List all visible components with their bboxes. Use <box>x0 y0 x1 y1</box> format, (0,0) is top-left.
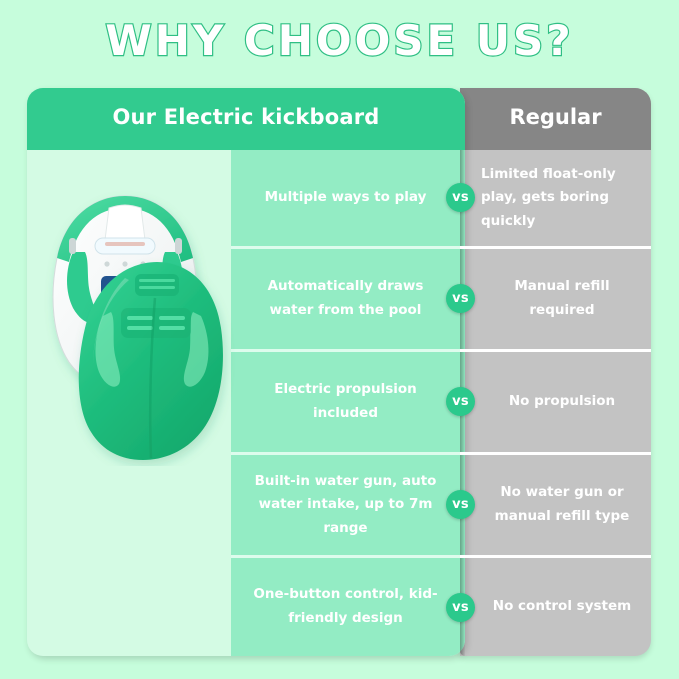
regular-cell: Manual refill required <box>469 249 651 349</box>
regular-column-header: Regular <box>460 88 651 150</box>
regular-cell: No control system <box>469 558 651 656</box>
vs-badge: vs <box>446 593 475 622</box>
regular-column-header-label: Regular <box>460 105 651 129</box>
regular-cell: No propulsion <box>469 352 651 452</box>
electric-kickboard-product-photo <box>29 166 239 466</box>
ours-cell: Automatically draws water from the pool <box>231 249 460 349</box>
ours-cell: One-button control, kid-friendly design <box>231 558 460 656</box>
table-row: Built-in water gun, auto water intake, u… <box>27 455 651 555</box>
ours-column-header: Our Electric kickboard <box>27 88 465 150</box>
vs-badge: vs <box>446 490 475 519</box>
vs-badge: vs <box>446 284 475 313</box>
ours-cell: Electric propulsion included <box>231 352 460 452</box>
regular-cell: No water gun or manual refill type <box>469 455 651 555</box>
ours-cell: Multiple ways to play <box>231 150 460 246</box>
vs-badge: vs <box>446 183 475 212</box>
regular-cell: Limited float-only play, gets boring qui… <box>469 150 651 246</box>
comparison-card: Regular Our Electric kickboard <box>27 88 651 656</box>
table-row: One-button control, kid-friendly design … <box>27 558 651 656</box>
ours-column-header-label: Our Electric kickboard <box>27 105 465 129</box>
page-title: WHY CHOOSE US? <box>0 18 679 64</box>
vs-badge: vs <box>446 387 475 416</box>
ours-cell: Built-in water gun, auto water intake, u… <box>231 455 460 555</box>
